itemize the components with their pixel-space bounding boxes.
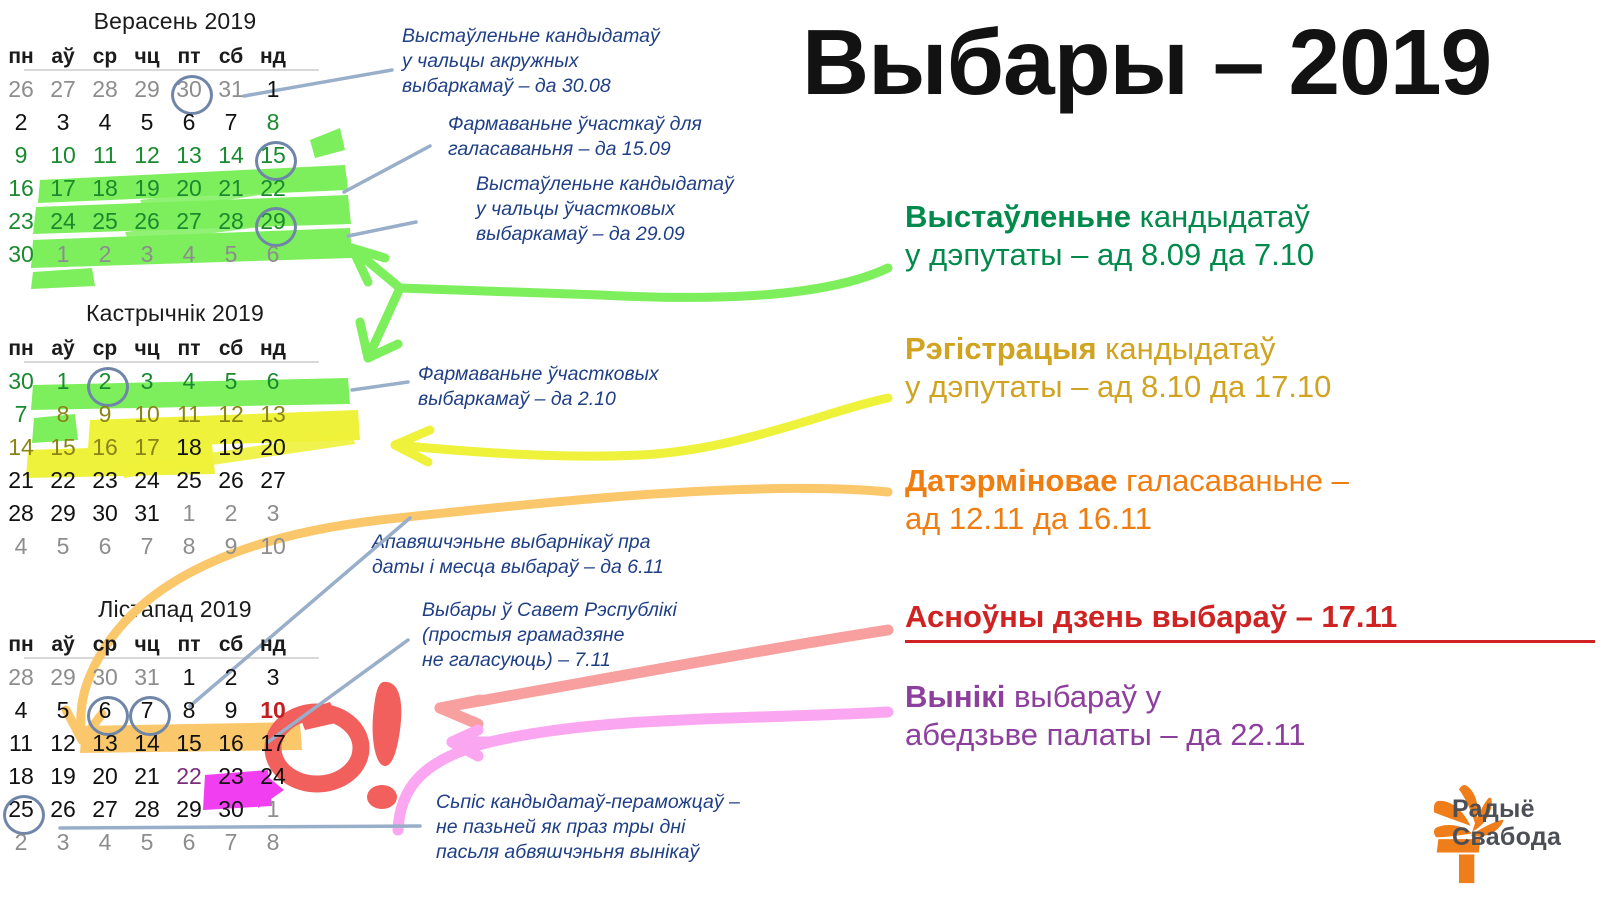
calendar-day[interactable]: 12: [210, 403, 252, 426]
weekday-label: пт: [168, 338, 210, 359]
calendar-day[interactable]: 28: [210, 210, 252, 233]
calendar-day[interactable]: 6: [84, 699, 126, 722]
calendar-day[interactable]: 5: [42, 535, 84, 558]
calendar-day[interactable]: 27: [168, 210, 210, 233]
calendar-day[interactable]: 2: [84, 243, 126, 266]
calendar-day[interactable]: 29: [42, 666, 84, 689]
calendar-day[interactable]: 15: [168, 732, 210, 755]
calendar-day[interactable]: 10: [252, 535, 294, 558]
calendar-day[interactable]: 20: [168, 177, 210, 200]
weekday-label: нд: [252, 338, 294, 359]
calendar-day[interactable]: 6: [252, 243, 294, 266]
calendar-day[interactable]: 12: [42, 732, 84, 755]
calendar-day[interactable]: 13: [168, 144, 210, 167]
calendar-day[interactable]: 13: [84, 732, 126, 755]
calendar-week-row: 2345678: [0, 826, 350, 859]
calendar-day[interactable]: 11: [0, 732, 42, 755]
calendar-day[interactable]: 25: [0, 798, 42, 821]
calendar-day[interactable]: 19: [42, 765, 84, 788]
calendar-day[interactable]: 3: [252, 666, 294, 689]
legend-line-2: у дэпутаты – ад 8.09 да 7.10: [905, 236, 1314, 274]
calendar-day[interactable]: 15: [252, 144, 294, 167]
calendar-day[interactable]: 5: [126, 831, 168, 854]
calendar-day[interactable]: 10: [252, 699, 294, 722]
calendar-day[interactable]: 6: [168, 111, 210, 134]
calendar-day[interactable]: 26: [42, 798, 84, 821]
calendar-week-row: 9101112131415: [0, 139, 350, 172]
calendar-week-row: 16171819202122: [0, 172, 350, 205]
logo-wordmark: Радыё Свабода: [1452, 795, 1561, 851]
calendar-day[interactable]: 22: [42, 469, 84, 492]
calendar-day[interactable]: 6: [168, 831, 210, 854]
calendar-day[interactable]: 8: [168, 535, 210, 558]
calendar-day[interactable]: 21: [0, 469, 42, 492]
calendar-day[interactable]: 8: [168, 699, 210, 722]
calendar-grid: пнаўсрчцптсбнд30123456789101112131415161…: [0, 333, 350, 563]
calendar-day[interactable]: 7: [210, 831, 252, 854]
legend-early-voting: Датэрміновае галасаваньне –ад 12.11 да 1…: [905, 462, 1349, 539]
legend-line-1: Датэрміновае галасаваньне –: [905, 462, 1349, 500]
legend-main-election-day: Асноўны дзень выбараў – 17.11: [905, 598, 1595, 643]
weekday-header-row: пнаўсрчцптсбнд: [0, 41, 350, 71]
header-divider: [24, 69, 319, 71]
header-divider: [24, 361, 319, 363]
calendar-day[interactable]: 1: [252, 798, 294, 821]
calendar-day[interactable]: 9: [210, 535, 252, 558]
calendar-day[interactable]: 31: [210, 78, 252, 101]
legend-line-1: Рэгістрацыя кандыдатаў: [905, 330, 1331, 368]
calendar-day[interactable]: 16: [0, 177, 42, 200]
calendar-day[interactable]: 7: [210, 111, 252, 134]
calendar-day[interactable]: 20: [252, 436, 294, 459]
weekday-label: пт: [168, 46, 210, 67]
calendar-day[interactable]: 30: [0, 243, 42, 266]
calendar-day[interactable]: 11: [168, 403, 210, 426]
calendar-week-row: 45678910: [0, 694, 350, 727]
calendar-day[interactable]: 18: [168, 436, 210, 459]
calendar-grid: пнаўсрчцптсбнд28293031123456789101112131…: [0, 629, 350, 859]
logo-line-2: Свабода: [1452, 823, 1561, 851]
calendar-week-row: 23242526272829: [0, 205, 350, 238]
calendar-day[interactable]: 14: [0, 436, 42, 459]
weekday-label: аў: [42, 46, 84, 67]
calendar-week-row: 14151617181920: [0, 431, 350, 464]
calendar-day[interactable]: 4: [168, 370, 210, 393]
calendar-day[interactable]: 17: [126, 436, 168, 459]
calendar-day[interactable]: 7: [126, 699, 168, 722]
calendar-week-row: 18192021222324: [0, 760, 350, 793]
calendar-day[interactable]: 28: [0, 502, 42, 525]
calendar-day[interactable]: 5: [42, 699, 84, 722]
calendar-day[interactable]: 3: [42, 111, 84, 134]
calendar-day[interactable]: 9: [0, 144, 42, 167]
note-precinct-candidates: Выстаўленьне кандыдатаў у чальцы ўчастко…: [476, 172, 776, 246]
calendar-day[interactable]: 10: [126, 403, 168, 426]
calendar-day[interactable]: 5: [210, 370, 252, 393]
weekday-label: нд: [252, 46, 294, 67]
legend-line-2: ад 12.11 да 16.11: [905, 500, 1349, 538]
calendar-day[interactable]: 2: [210, 666, 252, 689]
calendar-day[interactable]: 14: [126, 732, 168, 755]
calendar-day[interactable]: 29: [168, 798, 210, 821]
calendar-day[interactable]: 7: [0, 403, 42, 426]
calendar-day[interactable]: 19: [210, 436, 252, 459]
calendar-day[interactable]: 24: [126, 469, 168, 492]
calendar-day[interactable]: 27: [252, 469, 294, 492]
calendar-week-row: 11121314151617: [0, 727, 350, 760]
weekday-label: пн: [0, 634, 42, 655]
legend-keyword: Выстаўленьне: [905, 199, 1131, 234]
calendar-week-row: 2627282930311: [0, 73, 350, 106]
legend-line-1: Вынікі выбараў у: [905, 678, 1305, 716]
calendar-day[interactable]: 29: [252, 210, 294, 233]
weekday-label: ср: [84, 338, 126, 359]
calendar-day[interactable]: 24: [252, 765, 294, 788]
weekday-label: чц: [126, 46, 168, 67]
weekday-label: чц: [126, 634, 168, 655]
calendar-week-row: 78910111213: [0, 398, 350, 431]
calendar-day[interactable]: 26: [126, 210, 168, 233]
calendar-day[interactable]: 2: [0, 111, 42, 134]
weekday-label: пт: [168, 634, 210, 655]
calendar-day[interactable]: 16: [84, 436, 126, 459]
calendar-day[interactable]: 30: [84, 502, 126, 525]
legend-rest: галасаваньне –: [1118, 463, 1349, 498]
weekday-label: сб: [210, 634, 252, 655]
legend-line-2: абедзьве палаты – да 22.11: [905, 716, 1305, 754]
weekday-label: ср: [84, 46, 126, 67]
calendar-title: Кастрычнік 2019: [0, 300, 350, 327]
calendar-title: Лістапад 2019: [0, 596, 350, 623]
calendar-day[interactable]: 15: [42, 436, 84, 459]
calendar-day[interactable]: 1: [42, 243, 84, 266]
calendar-day[interactable]: 11: [84, 144, 126, 167]
calendar-day[interactable]: 16: [210, 732, 252, 755]
green-arrow: [352, 248, 888, 358]
infographic-root: Выбары – 2019 Верасень 2019пнаўсрчцптсбн…: [0, 0, 1600, 900]
calendar-day[interactable]: 18: [0, 765, 42, 788]
calendar-day[interactable]: 4: [0, 535, 42, 558]
weekday-label: пн: [0, 338, 42, 359]
calendar-day[interactable]: 4: [84, 111, 126, 134]
calendar-day[interactable]: 1: [168, 666, 210, 689]
calendar-day[interactable]: 27: [84, 798, 126, 821]
calendar-day[interactable]: 9: [210, 699, 252, 722]
weekday-header-row: пнаўсрчцптсбнд: [0, 333, 350, 363]
legend-rest: кандыдатаў: [1131, 199, 1310, 234]
calendar-day[interactable]: 6: [252, 370, 294, 393]
calendar-week-row: 45678910: [0, 530, 350, 563]
calendar-september: Верасень 2019пнаўсрчцптсбнд2627282930311…: [0, 8, 350, 271]
weekday-label: пн: [0, 46, 42, 67]
calendar-day[interactable]: 25: [84, 210, 126, 233]
legend-nomination: Выстаўленьне кандыдатаўу дэпутаты – ад 8…: [905, 198, 1314, 275]
calendar-day[interactable]: 7: [126, 535, 168, 558]
calendar-day[interactable]: 5: [210, 243, 252, 266]
calendar-day[interactable]: 23: [0, 210, 42, 233]
calendar-day[interactable]: 22: [252, 177, 294, 200]
calendar-day[interactable]: 30: [168, 78, 210, 101]
calendar-day[interactable]: 30: [0, 370, 42, 393]
legend-rest: кандыдатаў: [1097, 331, 1276, 366]
calendar-day[interactable]: 2: [210, 502, 252, 525]
calendar-day[interactable]: 17: [252, 732, 294, 755]
calendar-week-row: 30123456: [0, 365, 350, 398]
legend-rest: выбараў у: [1005, 679, 1161, 714]
calendar-grid: пнаўсрчцптсбнд26272829303112345678910111…: [0, 41, 350, 271]
calendar-day[interactable]: 8: [42, 403, 84, 426]
calendar-title: Верасень 2019: [0, 8, 350, 35]
calendar-day[interactable]: 26: [0, 78, 42, 101]
weekday-label: ср: [84, 634, 126, 655]
calendar-week-row: 2345678: [0, 106, 350, 139]
note-voter-notification: Апавяшчэньне выбарнікаў пра даты і месца…: [372, 530, 702, 580]
calendar-day[interactable]: 28: [84, 78, 126, 101]
calendar-day[interactable]: 26: [210, 469, 252, 492]
calendar-day[interactable]: 28: [0, 666, 42, 689]
calendar-week-row: 21222324252627: [0, 464, 350, 497]
legend-line-1: Выстаўленьне кандыдатаў: [905, 198, 1314, 236]
page-title: Выбары – 2019: [802, 16, 1491, 109]
calendar-day[interactable]: 10: [42, 144, 84, 167]
calendar-day[interactable]: 5: [126, 111, 168, 134]
calendar-day[interactable]: 4: [168, 243, 210, 266]
calendar-day[interactable]: 12: [126, 144, 168, 167]
calendar-week-row: 30123456: [0, 238, 350, 271]
legend-results: Вынікі выбараў уабедзьве палаты – да 22.…: [905, 678, 1305, 755]
calendar-day[interactable]: 19: [126, 177, 168, 200]
calendar-day[interactable]: 4: [84, 831, 126, 854]
calendar-day[interactable]: 27: [42, 78, 84, 101]
calendar-day[interactable]: 23: [84, 469, 126, 492]
calendar-day[interactable]: 8: [252, 831, 294, 854]
calendar-day[interactable]: 29: [42, 502, 84, 525]
calendar-day[interactable]: 22: [168, 765, 210, 788]
weekday-label: нд: [252, 634, 294, 655]
calendar-day[interactable]: 21: [210, 177, 252, 200]
weekday-label: аў: [42, 634, 84, 655]
calendar-day[interactable]: 21: [126, 765, 168, 788]
calendar-day[interactable]: 24: [42, 210, 84, 233]
legend-keyword: Вынікі: [905, 679, 1005, 714]
calendar-day[interactable]: 4: [0, 699, 42, 722]
weekday-label: сб: [210, 46, 252, 67]
calendar-day[interactable]: 30: [210, 798, 252, 821]
weekday-label: сб: [210, 338, 252, 359]
calendar-day[interactable]: 3: [126, 370, 168, 393]
calendar-day[interactable]: 1: [168, 502, 210, 525]
calendar-day[interactable]: 1: [42, 370, 84, 393]
calendar-day[interactable]: 31: [126, 502, 168, 525]
calendar-day[interactable]: 3: [42, 831, 84, 854]
legend-keyword: Датэрміновае: [905, 463, 1118, 498]
note-district-commissions: Выстаўленьне кандыдатаў у чальцы акружны…: [402, 24, 702, 98]
weekday-label: чц: [126, 338, 168, 359]
calendar-day[interactable]: 13: [252, 403, 294, 426]
calendar-day[interactable]: 2: [0, 831, 42, 854]
logo-line-1: Радыё: [1452, 795, 1561, 823]
calendar-november: Лістапад 2019пнаўсрчцптсбнд2829303112345…: [0, 596, 350, 859]
calendar-week-row: 2526272829301: [0, 793, 350, 826]
calendar-day[interactable]: 30: [84, 666, 126, 689]
calendar-day[interactable]: 25: [168, 469, 210, 492]
calendar-day[interactable]: 18: [84, 177, 126, 200]
calendar-october: Кастрычнік 2019пнаўсрчцптсбнд30123456789…: [0, 300, 350, 563]
calendar-day[interactable]: 17: [42, 177, 84, 200]
calendar-day[interactable]: 31: [126, 666, 168, 689]
legend-line-1: Асноўны дзень выбараў – 17.11: [905, 598, 1595, 636]
calendar-day[interactable]: 29: [126, 78, 168, 101]
calendar-day[interactable]: 28: [126, 798, 168, 821]
legend-keyword: Рэгістрацыя: [905, 331, 1097, 366]
legend-line-2: у дэпутаты – ад 8.10 да 17.10: [905, 368, 1331, 406]
calendar-week-row: 28293031123: [0, 661, 350, 694]
weekday-label: аў: [42, 338, 84, 359]
calendar-day[interactable]: 9: [84, 403, 126, 426]
calendar-day[interactable]: 3: [126, 243, 168, 266]
calendar-day[interactable]: 1: [252, 78, 294, 101]
note-winners-list: Сьпіс кандыдатаў-пераможцаў – не пазьней…: [436, 790, 776, 864]
calendar-day[interactable]: 6: [84, 535, 126, 558]
note-precinct-commissions: Фармаваньне ўчастковых выбаркамаў – да 2…: [418, 362, 718, 412]
calendar-day[interactable]: 8: [252, 111, 294, 134]
header-divider: [24, 657, 319, 659]
calendar-day[interactable]: 20: [84, 765, 126, 788]
note-polling-stations: Фармаваньне ўчасткаў для галасаваньня – …: [448, 112, 748, 162]
calendar-day[interactable]: 2: [84, 370, 126, 393]
weekday-header-row: пнаўсрчцптсбнд: [0, 629, 350, 659]
legend-registration: Рэгістрацыя кандыдатаўу дэпутаты – ад 8.…: [905, 330, 1331, 407]
legend-keyword: Асноўны дзень выбараў – 17.11: [905, 599, 1397, 634]
calendar-day[interactable]: 23: [210, 765, 252, 788]
note-council-republic: Выбары ў Савет Рэспублікі (простыя грама…: [422, 598, 722, 672]
calendar-day[interactable]: 14: [210, 144, 252, 167]
calendar-week-row: 28293031123: [0, 497, 350, 530]
calendar-day[interactable]: 3: [252, 502, 294, 525]
